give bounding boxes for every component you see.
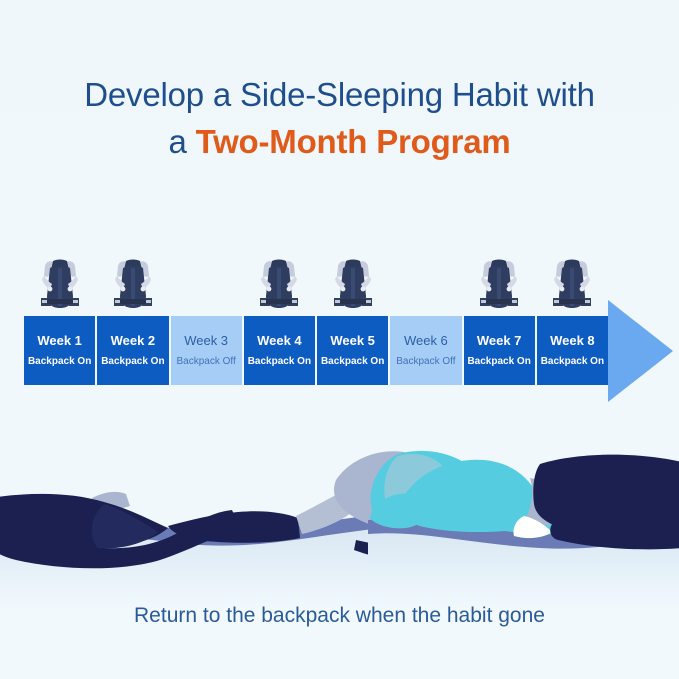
timeline-week-label: Week 2 <box>111 334 156 347</box>
posture-brace-icon <box>549 256 595 314</box>
timeline-week-status: Backpack On <box>28 357 91 367</box>
page-title: Develop a Side-Sleeping Habit with a Two… <box>0 72 679 166</box>
timeline-week-block[interactable]: Week 2Backpack On <box>97 316 168 385</box>
timeline-week-label: Week 4 <box>257 334 302 347</box>
timeline-week-status: Backpack On <box>248 357 311 367</box>
title-line-2-lead: a <box>168 123 195 160</box>
timeline-week-label: Week 1 <box>37 334 82 347</box>
title-line-1: Develop a Side-Sleeping Habit with <box>0 72 679 119</box>
timeline-week-block[interactable]: Week 6Backpack Off <box>390 316 461 385</box>
title-line-2: a Two-Month Program <box>0 119 679 166</box>
right-arrow-icon <box>608 300 673 402</box>
timeline-week-label: Week 8 <box>550 334 595 347</box>
timeline-week-status: Backpack Off <box>176 357 235 367</box>
timeline-week-status: Backpack On <box>321 357 384 367</box>
shoulder-left <box>168 511 300 543</box>
timeline-week-label: Week 5 <box>330 334 375 347</box>
timeline-week-block[interactable]: Week 1Backpack On <box>24 316 95 385</box>
title-line-2-accent: Two-Month Program <box>196 123 511 160</box>
timeline-week-block[interactable]: Week 4Backpack On <box>244 316 315 385</box>
timeline-week-status: Backpack On <box>467 357 530 367</box>
timeline-week-label: Week 6 <box>404 334 448 347</box>
timeline-week-block[interactable]: Week 7Backpack On <box>464 316 535 385</box>
posture-brace-icon <box>256 256 302 314</box>
timeline-week-status: Backpack Off <box>396 357 455 367</box>
footer-caption: Return to the backpack when the habit go… <box>0 604 679 628</box>
timeline-week-block[interactable]: Week 8Backpack On <box>537 316 608 385</box>
timeline-week-block[interactable]: Week 5Backpack On <box>317 316 388 385</box>
timeline-week-status: Backpack On <box>101 357 164 367</box>
timeline-week-label: Week 7 <box>477 334 522 347</box>
posture-brace-icon <box>110 256 156 314</box>
timeline-week-block[interactable]: Week 3Backpack Off <box>171 316 242 385</box>
posture-brace-icon <box>37 256 83 314</box>
posture-brace-icon <box>476 256 522 314</box>
poster-canvas: Develop a Side-Sleeping Habit with a Two… <box>0 0 679 679</box>
posture-brace-icon <box>330 256 376 314</box>
timeline-week-status: Backpack On <box>541 357 604 367</box>
sleeping-illustration <box>0 420 679 610</box>
timeline-week-label: Week 3 <box>184 334 228 347</box>
